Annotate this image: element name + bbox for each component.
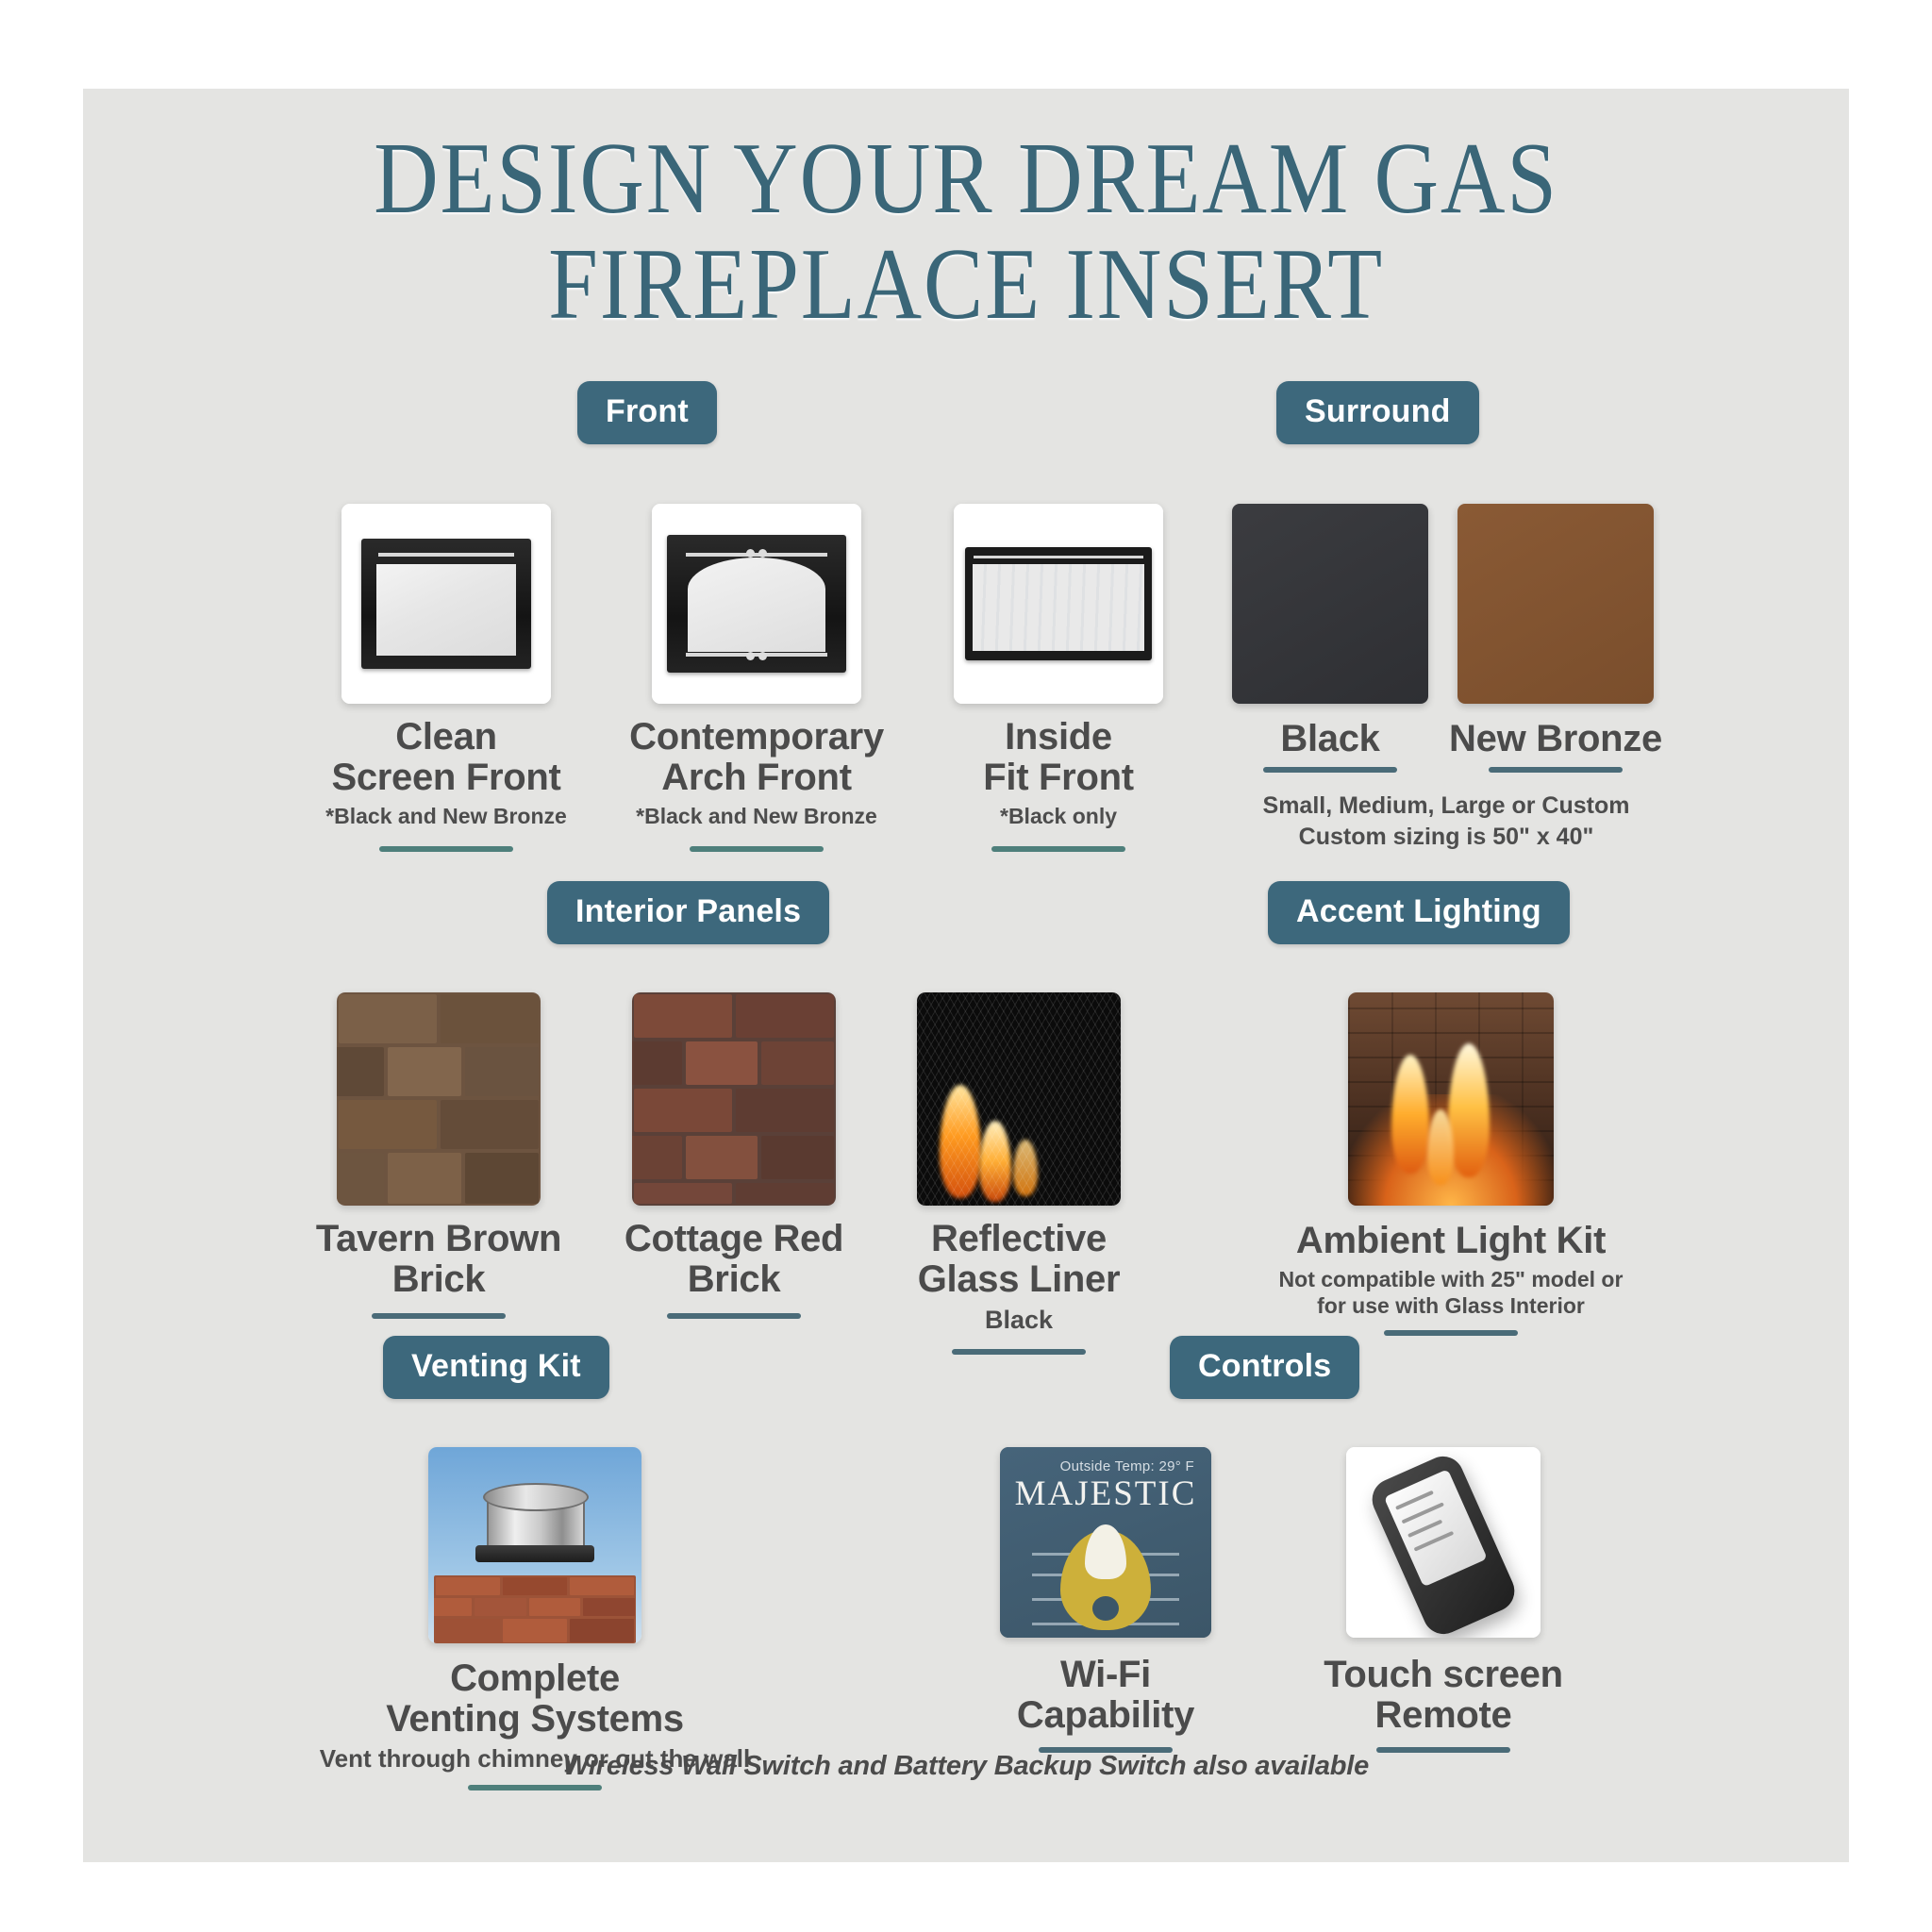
section-badge-front[interactable]: Front (577, 381, 717, 444)
option-tavern-brown-brick[interactable]: Tavern Brown Brick (283, 992, 594, 1319)
divider-rule (690, 846, 824, 852)
divider-rule (1263, 767, 1397, 773)
option-sub: *Black and New Bronze (598, 803, 915, 829)
controls-footnote: Wireless Wall Switch and Battery Backup … (83, 1751, 1849, 1782)
option-sub: Not compatible with 25" model or for use… (1224, 1266, 1677, 1319)
content-panel: DESIGN YOUR DREAM GAS FIREPLACE INSERT F… (83, 89, 1849, 1862)
divider-rule (372, 1313, 506, 1319)
option-cottage-red-brick[interactable]: Cottage Red Brick (592, 992, 875, 1319)
tavern-brown-brick-swatch (337, 992, 541, 1206)
cottage-red-brick-swatch (632, 992, 836, 1206)
contemporary-arch-front-image (652, 504, 861, 704)
option-name: Ambient Light Kit (1224, 1221, 1677, 1261)
option-clean-screen-front[interactable]: Clean Screen Front *Black and New Bronze (296, 504, 596, 852)
divider-rule (379, 846, 513, 852)
section-badge-interior-panels[interactable]: Interior Panels (547, 881, 829, 944)
option-name: Cottage Red Brick (592, 1219, 875, 1300)
option-sub: *Black only (917, 803, 1200, 829)
option-name: Contemporary Arch Front (598, 717, 915, 798)
option-touchscreen-remote[interactable]: Touch screen Remote (1275, 1447, 1611, 1753)
ambient-light-kit-image (1348, 992, 1554, 1206)
surround-sizing-note: Small, Medium, Large or Custom Custom si… (1196, 787, 1696, 851)
option-sub: Black (874, 1305, 1164, 1336)
option-wifi-capability[interactable]: Outside Temp: 29° F MAJESTIC Wi-Fi Capab… (938, 1447, 1274, 1753)
divider-rule (468, 1785, 602, 1790)
new-bronze-swatch (1457, 504, 1654, 704)
reflective-glass-liner-swatch (917, 992, 1121, 1206)
clean-screen-front-image (341, 504, 551, 704)
option-name: Reflective Glass Liner (874, 1219, 1164, 1300)
touchscreen-remote-image (1346, 1447, 1541, 1638)
wifi-thermostat-image: Outside Temp: 29° F MAJESTIC (1000, 1447, 1211, 1638)
section-badge-accent-lighting[interactable]: Accent Lighting (1268, 881, 1570, 944)
page-title: DESIGN YOUR DREAM GAS FIREPLACE INSERT (189, 126, 1742, 339)
option-name: Inside Fit Front (917, 717, 1200, 798)
option-name: Complete Venting Systems (306, 1658, 764, 1740)
section-badge-venting-kit[interactable]: Venting Kit (383, 1336, 609, 1399)
divider-rule (991, 846, 1125, 852)
surround-note-line-2: Custom sizing is 50" x 40" (1196, 823, 1696, 852)
option-name: New Bronze (1419, 719, 1692, 759)
option-name: Clean Screen Front (296, 717, 596, 798)
infographic-canvas: DESIGN YOUR DREAM GAS FIREPLACE INSERT F… (0, 0, 1932, 1932)
option-name: Tavern Brown Brick (283, 1219, 594, 1300)
divider-rule (1489, 767, 1623, 773)
option-inside-fit-front[interactable]: Inside Fit Front *Black only (917, 504, 1200, 852)
chimney-vent-cap-image (428, 1447, 641, 1643)
divider-rule (952, 1349, 1086, 1355)
option-ambient-light-kit[interactable]: Ambient Light Kit Not compatible with 25… (1224, 992, 1677, 1336)
option-name: Touch screen Remote (1275, 1655, 1611, 1736)
option-surround-new-bronze[interactable]: New Bronze (1419, 504, 1692, 773)
option-sub: *Black and New Bronze (296, 803, 596, 829)
inside-fit-front-image (954, 504, 1163, 704)
divider-rule (667, 1313, 801, 1319)
title-line-1: DESIGN YOUR DREAM GAS (189, 126, 1742, 232)
title-line-2: FIREPLACE INSERT (189, 232, 1742, 338)
black-swatch (1232, 504, 1428, 704)
option-reflective-glass-liner[interactable]: Reflective Glass Liner Black (874, 992, 1164, 1355)
option-contemporary-arch-front[interactable]: Contemporary Arch Front *Black and New B… (598, 504, 915, 852)
thermostat-temp: Outside Temp: 29° F (1060, 1458, 1194, 1474)
section-badge-controls[interactable]: Controls (1170, 1336, 1359, 1399)
option-name: Wi-Fi Capability (938, 1655, 1274, 1736)
surround-note-line-1: Small, Medium, Large or Custom (1196, 791, 1696, 821)
option-complete-venting-systems[interactable]: Complete Venting Systems Vent through ch… (306, 1447, 764, 1790)
divider-rule (1384, 1330, 1518, 1336)
section-badge-surround[interactable]: Surround (1276, 381, 1479, 444)
thermostat-brand: MAJESTIC (1000, 1474, 1211, 1514)
